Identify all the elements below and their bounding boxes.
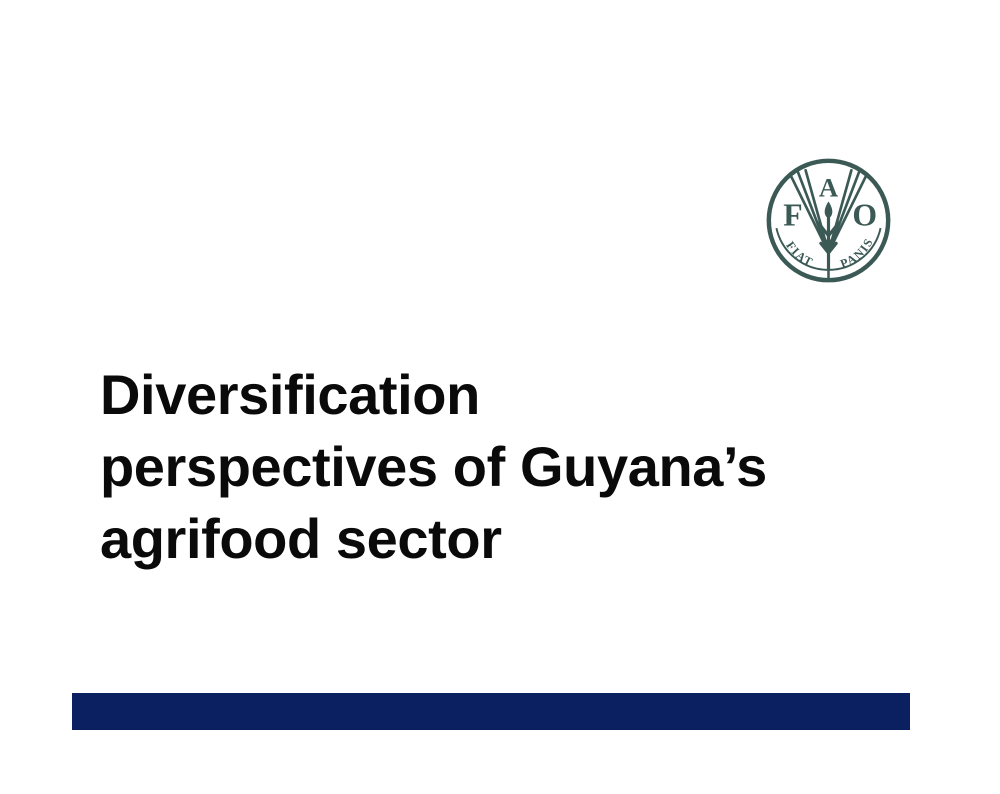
page-title-line-2: perspectives of Guyana’s — [100, 431, 900, 503]
cover-page: F A O FIAT PANIS Diversification pe — [0, 0, 1000, 794]
page-title-line-3: agrifood sector — [100, 503, 900, 575]
logo-grain-drop — [825, 201, 833, 218]
logo-letter-a: A — [819, 172, 839, 202]
fao-logo-graphic: F A O FIAT PANIS — [765, 157, 892, 284]
page-title-line-1: Diversification — [100, 359, 900, 431]
fao-logo: F A O FIAT PANIS — [765, 157, 892, 284]
logo-letter-f: F — [783, 198, 802, 233]
logo-letter-o: O — [852, 198, 877, 233]
page-title: Diversification perspectives of Guyana’s… — [100, 359, 900, 575]
accent-bar — [72, 693, 910, 730]
